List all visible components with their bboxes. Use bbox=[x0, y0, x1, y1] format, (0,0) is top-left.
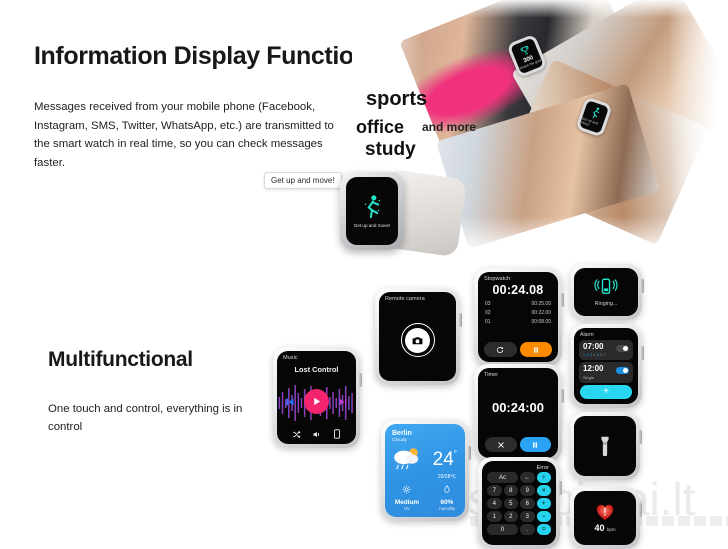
camera-shutter-ring[interactable] bbox=[401, 323, 435, 357]
weather-range: 20/28℃ bbox=[385, 474, 465, 480]
alarm-days-1: 1 2 3 4 5 6 7 bbox=[583, 353, 629, 357]
phone-icon[interactable] bbox=[333, 429, 341, 439]
reset-icon bbox=[496, 346, 504, 354]
watch-face-remote-camera[interactable]: Remote camera bbox=[375, 288, 460, 385]
music-bottom-bar bbox=[277, 429, 356, 439]
timer-time: 00:24:00 bbox=[478, 400, 558, 415]
alarm-day[interactable]: 3 bbox=[590, 353, 592, 357]
stopwatch-lap-row: 01 00:08.00 bbox=[485, 318, 551, 327]
watch-face-music[interactable]: Music Lost Control bbox=[273, 347, 360, 448]
pause-icon bbox=[532, 346, 540, 354]
stopwatch-controls bbox=[484, 342, 552, 357]
camera-screen: Remote camera bbox=[379, 292, 456, 381]
heart-icon bbox=[595, 503, 615, 521]
sun-icon bbox=[402, 485, 411, 494]
lap-time: 00:25.00 bbox=[532, 300, 551, 309]
calc-key-plus[interactable]: + bbox=[537, 498, 552, 509]
information-display-body: Messages received from your mobile phone… bbox=[34, 98, 334, 172]
calc-key-5[interactable]: 5 bbox=[504, 498, 519, 509]
watch-face-weather[interactable]: Berlin Cloudy 24° 20/28℃ bbox=[381, 420, 469, 521]
calc-key-9[interactable]: 9 bbox=[520, 485, 535, 496]
pause-icon bbox=[531, 441, 539, 449]
music-controls bbox=[277, 389, 356, 414]
runner-icon bbox=[361, 194, 383, 220]
cloud-rain-sun-icon bbox=[391, 445, 423, 473]
camera-icon bbox=[411, 334, 424, 347]
calc-key-ac[interactable]: Ac bbox=[487, 472, 518, 483]
slide-root: Information Display Function Messages re… bbox=[0, 0, 728, 546]
watch-face-heart-rate[interactable]: 40 bpm bbox=[570, 487, 640, 549]
find-phone-screen: Ringing... bbox=[574, 268, 638, 316]
calc-key-divide[interactable]: ÷ bbox=[537, 472, 552, 483]
lap-time: 00:08.00 bbox=[532, 318, 551, 327]
keyword-sports: sports bbox=[366, 88, 427, 111]
calc-key-decimal[interactable]: . bbox=[520, 524, 535, 535]
camera-shutter-button[interactable] bbox=[405, 328, 430, 353]
calc-key-0[interactable]: 0 bbox=[487, 524, 518, 535]
alarm-toggle-1[interactable] bbox=[616, 345, 629, 352]
keyword-and-more: and more bbox=[422, 120, 476, 134]
stopwatch-reset-button[interactable] bbox=[484, 342, 517, 357]
alarm-row-2[interactable]: 12:00 Single bbox=[579, 362, 633, 383]
hero-watch: Get up and move! Get up and move! bbox=[330, 166, 426, 268]
hero-watch-screen: Get up and move! bbox=[346, 177, 398, 245]
calc-key-minus[interactable]: − bbox=[537, 511, 552, 522]
volume-icon[interactable] bbox=[312, 430, 321, 439]
alarm-day[interactable]: 4 bbox=[594, 353, 596, 357]
music-track-name: Lost Control bbox=[277, 365, 356, 374]
calc-key-4[interactable]: 4 bbox=[487, 498, 502, 509]
weather-uv: Medium UV bbox=[395, 481, 419, 511]
find-phone-content: Ringing... bbox=[574, 268, 638, 316]
watch-face-flashlight[interactable] bbox=[570, 412, 640, 480]
stopwatch-lap-list: 03 00:25.00 02 00:22.00 01 00:08.00 bbox=[478, 300, 558, 327]
multifunctional-body: One touch and control, everything is in … bbox=[48, 400, 268, 436]
timer-title: Timer bbox=[478, 368, 558, 378]
alarm-title: Alarm bbox=[574, 328, 638, 338]
weather-humidity: 60% Humidity bbox=[439, 481, 455, 511]
flashlight-content bbox=[574, 416, 636, 476]
alarm-day[interactable]: 6 bbox=[601, 353, 603, 357]
stopwatch-pause-button[interactable] bbox=[520, 342, 553, 357]
flashlight-icon bbox=[599, 436, 611, 456]
timer-controls bbox=[485, 437, 551, 452]
stopwatch-screen: Stopwatch 00:24.08 03 00:25.00 02 00:22.… bbox=[478, 272, 558, 362]
stopwatch-lap-row: 03 00:25.00 bbox=[485, 300, 551, 309]
calculator-screen: Error Ac ← ÷ 7 8 9 × 4 5 6 + 1 2 3 − 0 .… bbox=[482, 461, 556, 545]
flashlight-screen bbox=[574, 416, 636, 476]
weather-temp-value: 24 bbox=[433, 449, 454, 470]
callout-bubble: Get up and move! bbox=[264, 172, 342, 189]
shuffle-icon[interactable] bbox=[292, 430, 301, 439]
alarm-row-1[interactable]: 07:00 1 2 3 4 5 6 7 bbox=[579, 340, 633, 360]
watch-face-timer[interactable]: Timer 00:24:00 bbox=[474, 364, 562, 462]
watch-face-calculator[interactable]: Error Ac ← ÷ 7 8 9 × 4 5 6 + 1 2 3 − 0 .… bbox=[478, 457, 560, 549]
collage-watch-move-caption: Get up and move! bbox=[580, 117, 603, 131]
watch-face-stopwatch[interactable]: Stopwatch 00:24.08 03 00:25.00 02 00:22.… bbox=[474, 268, 562, 366]
heart-rate-number: 40 bbox=[594, 523, 604, 533]
watch-face-alarm[interactable]: Alarm 07:00 1 2 3 4 5 6 7 12:00 Single bbox=[570, 324, 642, 408]
weather-stats: Medium UV 60% Humidity bbox=[385, 481, 465, 511]
alarm-day[interactable]: 5 bbox=[597, 353, 599, 357]
weather-temperature: 24° bbox=[433, 450, 457, 469]
calc-key-2[interactable]: 2 bbox=[504, 511, 519, 522]
music-title: Music bbox=[277, 351, 356, 361]
previous-icon[interactable] bbox=[284, 396, 296, 408]
play-button[interactable] bbox=[304, 389, 329, 414]
lap-time: 00:22.00 bbox=[532, 309, 551, 318]
calc-key-6[interactable]: 6 bbox=[520, 498, 535, 509]
weather-screen: Berlin Cloudy 24° 20/28℃ bbox=[385, 424, 465, 517]
stopwatch-time: 00:24.08 bbox=[478, 283, 558, 297]
close-icon bbox=[497, 441, 505, 449]
alarm-add-button[interactable]: + bbox=[580, 385, 632, 399]
alarm-day[interactable]: 2 bbox=[587, 353, 589, 357]
lap-index: 02 bbox=[485, 309, 491, 318]
heart-rate-content: 40 bpm bbox=[574, 491, 636, 545]
heart-rate-screen: 40 bpm bbox=[574, 491, 636, 545]
weather-uv-value: Medium bbox=[395, 499, 419, 506]
stopwatch-lap-row: 02 00:22.00 bbox=[485, 309, 551, 318]
calc-key-equals[interactable]: = bbox=[537, 524, 552, 535]
phone-ringing-icon bbox=[594, 277, 618, 297]
alarm-toggle-2[interactable] bbox=[616, 367, 629, 374]
calculator-display: Error bbox=[482, 461, 556, 472]
heart-rate-unit: bpm bbox=[607, 527, 616, 532]
calc-key-multiply[interactable]: × bbox=[537, 485, 552, 496]
hero-watch-body: Get up and move! bbox=[340, 172, 404, 250]
calc-key-backspace[interactable]: ← bbox=[520, 472, 535, 483]
calculator-keypad: Ac ← ÷ 7 8 9 × 4 5 6 + 1 2 3 − 0 . = bbox=[482, 472, 556, 535]
calc-key-8[interactable]: 8 bbox=[504, 485, 519, 496]
calc-key-3[interactable]: 3 bbox=[520, 511, 535, 522]
hero-watch-caption: Get up and move! bbox=[354, 223, 391, 228]
alarm-day[interactable]: 7 bbox=[604, 353, 606, 357]
timer-cancel-button[interactable] bbox=[485, 437, 517, 452]
keyword-study: study bbox=[365, 139, 416, 161]
weather-degree-symbol: ° bbox=[454, 449, 457, 458]
lap-index: 01 bbox=[485, 318, 491, 327]
page-title: Information Display Function bbox=[34, 42, 369, 71]
lap-index: 03 bbox=[485, 300, 491, 309]
find-phone-status: Ringing... bbox=[595, 301, 618, 307]
calc-key-7[interactable]: 7 bbox=[487, 485, 502, 496]
weather-main: 24° bbox=[385, 443, 465, 473]
timer-screen: Timer 00:24:00 bbox=[478, 368, 558, 458]
alarm-repeat-2: Single bbox=[583, 375, 629, 380]
alarm-day[interactable]: 1 bbox=[583, 353, 585, 357]
stopwatch-title: Stopwatch bbox=[478, 272, 558, 282]
timer-pause-button[interactable] bbox=[520, 437, 552, 452]
play-icon bbox=[311, 396, 322, 407]
weather-humidity-value: 60% bbox=[439, 499, 455, 506]
alarm-screen: Alarm 07:00 1 2 3 4 5 6 7 12:00 Single bbox=[574, 328, 638, 404]
weather-uv-label: UV bbox=[395, 506, 419, 511]
next-icon[interactable] bbox=[337, 396, 349, 408]
heart-rate-value: 40 bpm bbox=[594, 523, 615, 533]
section-title-multifunctional: Multifunctional bbox=[48, 348, 193, 372]
camera-title: Remote camera bbox=[379, 292, 456, 302]
keyword-office: office bbox=[356, 117, 404, 138]
calc-key-1[interactable]: 1 bbox=[487, 511, 502, 522]
watch-face-find-phone[interactable]: Ringing... bbox=[570, 264, 642, 320]
weather-condition: Cloudy bbox=[385, 437, 465, 443]
music-screen: Music Lost Control bbox=[277, 351, 356, 444]
weather-city: Berlin bbox=[385, 424, 465, 437]
weather-humidity-label: Humidity bbox=[439, 506, 455, 511]
droplet-icon bbox=[443, 485, 451, 494]
